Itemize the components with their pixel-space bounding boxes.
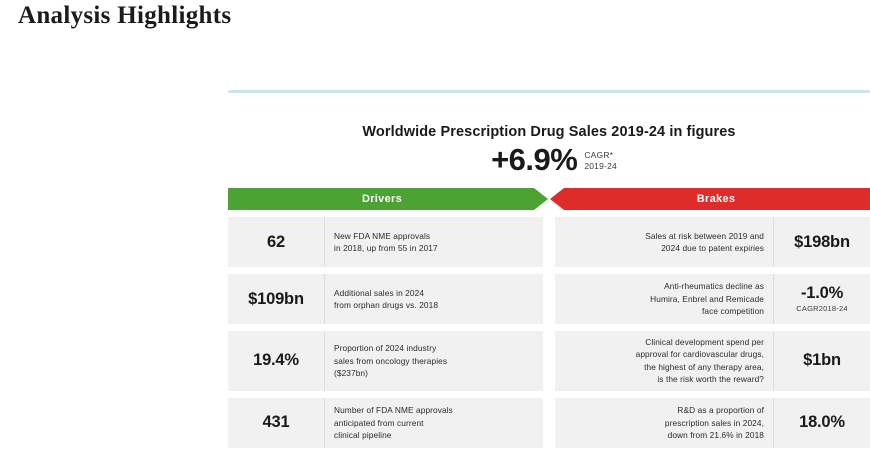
figure-value: $1bn <box>803 351 841 370</box>
cagr-label: CAGR* <box>584 150 617 161</box>
brakes-header-label: Brakes <box>685 193 736 205</box>
cagr-value: +6.9% <box>491 144 577 175</box>
figure-stack: 431 <box>263 413 290 432</box>
figure-value: 19.4% <box>253 351 299 370</box>
figure-value: 431 <box>263 413 290 432</box>
panel-top-divider <box>228 90 870 93</box>
brake-figure: $1bn <box>774 331 870 391</box>
driver-figure: $109bn <box>228 274 324 324</box>
brake-figure: 18.0% <box>774 398 870 448</box>
highlight-row: 431Number of FDA NME approvalsanticipate… <box>228 398 870 448</box>
figure-description: Clinical development spend perapproval f… <box>555 331 774 391</box>
brake-card: Sales at risk between 2019 and2024 due t… <box>555 217 870 267</box>
figure-stack: $198bn <box>794 233 850 252</box>
driver-card: $109bnAdditional sales in 2024from orpha… <box>228 274 543 324</box>
driver-card: 62New FDA NME approvalsin 2018, up from … <box>228 217 543 267</box>
figure-description: Sales at risk between 2019 and2024 due t… <box>555 217 774 267</box>
highlight-row: 19.4%Proportion of 2024 industrysales fr… <box>228 331 870 391</box>
figure-description: Number of FDA NME approvalsanticipated f… <box>324 398 543 448</box>
page-title: Analysis Highlights <box>18 2 231 30</box>
driver-figure: 19.4% <box>228 331 324 391</box>
figure-description: Proportion of 2024 industrysales from on… <box>324 331 543 391</box>
figure-stack: 62 <box>267 233 285 252</box>
figure-description: Anti-rheumatics decline asHumira, Enbrel… <box>555 274 774 324</box>
figure-note: CAGR2018-24 <box>796 305 847 314</box>
figure-description: New FDA NME approvalsin 2018, up from 55… <box>324 217 543 267</box>
figure-value: $198bn <box>794 233 850 252</box>
highlight-row: $109bnAdditional sales in 2024from orpha… <box>228 274 870 324</box>
figure-stack: $1bn <box>803 351 841 370</box>
figure-stack: $109bn <box>248 290 304 309</box>
category-header-bars: Drivers Brakes <box>228 188 870 210</box>
figure-value: 18.0% <box>799 413 845 432</box>
driver-figure: 62 <box>228 217 324 267</box>
infographic-panel: Worldwide Prescription Drug Sales 2019-2… <box>228 90 870 470</box>
driver-figure: 431 <box>228 398 324 448</box>
cagr-summary: +6.9% CAGR* 2019-24 <box>228 144 870 175</box>
brakes-header-arrow: Brakes <box>550 188 870 210</box>
brake-figure: -1.0%CAGR2018-24 <box>774 274 870 324</box>
highlight-row: 62New FDA NME approvalsin 2018, up from … <box>228 217 870 267</box>
brake-card: R&D as a proportion ofprescription sales… <box>555 398 870 448</box>
brake-figure: $198bn <box>774 217 870 267</box>
cagr-caption: CAGR* 2019-24 <box>584 144 617 173</box>
cagr-period: 2019-24 <box>584 161 617 172</box>
drivers-header-arrow: Drivers <box>228 188 548 210</box>
drivers-header-label: Drivers <box>362 193 414 205</box>
figure-description: Additional sales in 2024from orphan drug… <box>324 274 543 324</box>
driver-card: 19.4%Proportion of 2024 industrysales fr… <box>228 331 543 391</box>
figure-value: 62 <box>267 233 285 252</box>
figure-value: -1.0% <box>801 284 843 303</box>
figure-stack: -1.0%CAGR2018-24 <box>796 284 847 314</box>
highlight-rows: 62New FDA NME approvalsin 2018, up from … <box>228 217 870 448</box>
figure-stack: 18.0% <box>799 413 845 432</box>
figure-description: R&D as a proportion ofprescription sales… <box>555 398 774 448</box>
brake-card: Clinical development spend perapproval f… <box>555 331 870 391</box>
infographic-title: Worldwide Prescription Drug Sales 2019-2… <box>228 124 870 140</box>
brake-card: Anti-rheumatics decline asHumira, Enbrel… <box>555 274 870 324</box>
driver-card: 431Number of FDA NME approvalsanticipate… <box>228 398 543 448</box>
figure-value: $109bn <box>248 290 304 309</box>
figure-stack: 19.4% <box>253 351 299 370</box>
